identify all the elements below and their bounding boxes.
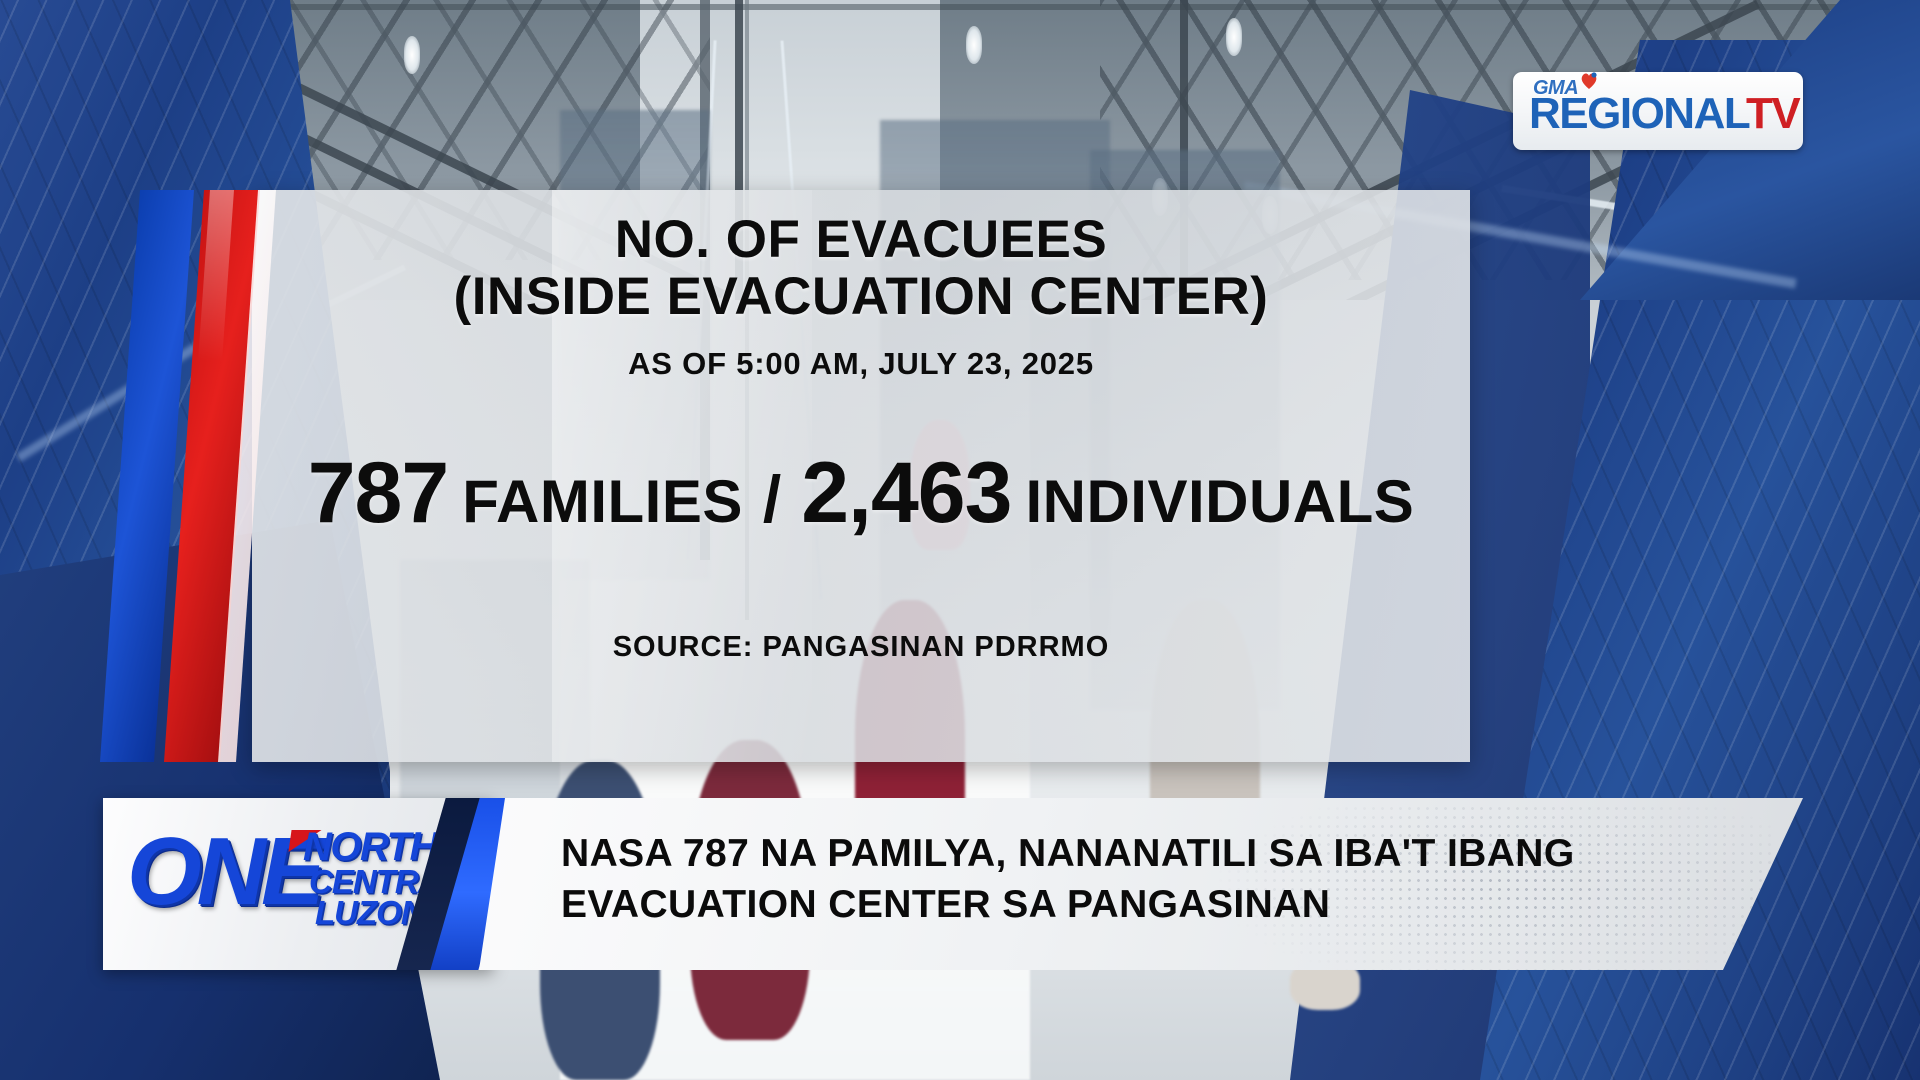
families-label: FAMILIES: [462, 467, 743, 536]
regional-text: REGIONAL: [1529, 89, 1746, 138]
headline-line-1: NASA 787 NA PAMILYA, NANANATILI SA IBA'T…: [561, 828, 1741, 879]
panel-source-credit: SOURCE: PANGASINAN PDRRMO: [613, 631, 1110, 664]
ceiling-lamp: [966, 26, 982, 64]
ceiling-lamp: [1226, 18, 1242, 56]
panel-timestamp: AS OF 5:00 AM, JULY 23, 2025: [628, 346, 1094, 382]
gma-heart-icon: [1579, 72, 1599, 90]
ceiling-lamp: [404, 36, 420, 74]
families-count: 787: [308, 444, 449, 543]
headline-text: NASA 787 NA PAMILYA, NANANATILI SA IBA'T…: [561, 828, 1741, 931]
individuals-count: 2,463: [801, 444, 1011, 543]
headline-banner: NASA 787 NA PAMILYA, NANANATILI SA IBA'T…: [479, 798, 1803, 970]
lower-third: ONE NORTH CENTRAL LUZON NASA 787 NA PAMI…: [103, 798, 1803, 970]
evacuee-stat-panel: NO. OF EVACUEES (INSIDE EVACUATION CENTE…: [126, 190, 1470, 762]
gma-regional-tv-bug: GMA REGIONALTV: [1513, 72, 1803, 150]
panel-content: NO. OF EVACUEES (INSIDE EVACUATION CENTE…: [252, 190, 1470, 762]
stat-separator: /: [763, 461, 781, 537]
panel-title-line1: NO. OF EVACUEES: [615, 212, 1107, 267]
broadcast-screen: GMA REGIONALTV NO. OF EVACUEES (INSIDE E…: [0, 0, 1920, 1080]
one-north-central-luzon-logo: ONE NORTH CENTRAL LUZON: [127, 816, 427, 952]
headline-line-2: EVACUATION CENTER SA PANGASINAN: [561, 879, 1741, 930]
evacuee-statistics: 787 FAMILIES / 2,463 INDIVIDUALS: [308, 444, 1415, 543]
tv-text: TV: [1746, 89, 1799, 138]
individuals-label: INDIVIDUALS: [1025, 467, 1414, 536]
panel-title-line2: (INSIDE EVACUATION CENTER): [454, 269, 1269, 324]
gma-regional-tv-wordmark: REGIONALTV: [1529, 92, 1799, 136]
